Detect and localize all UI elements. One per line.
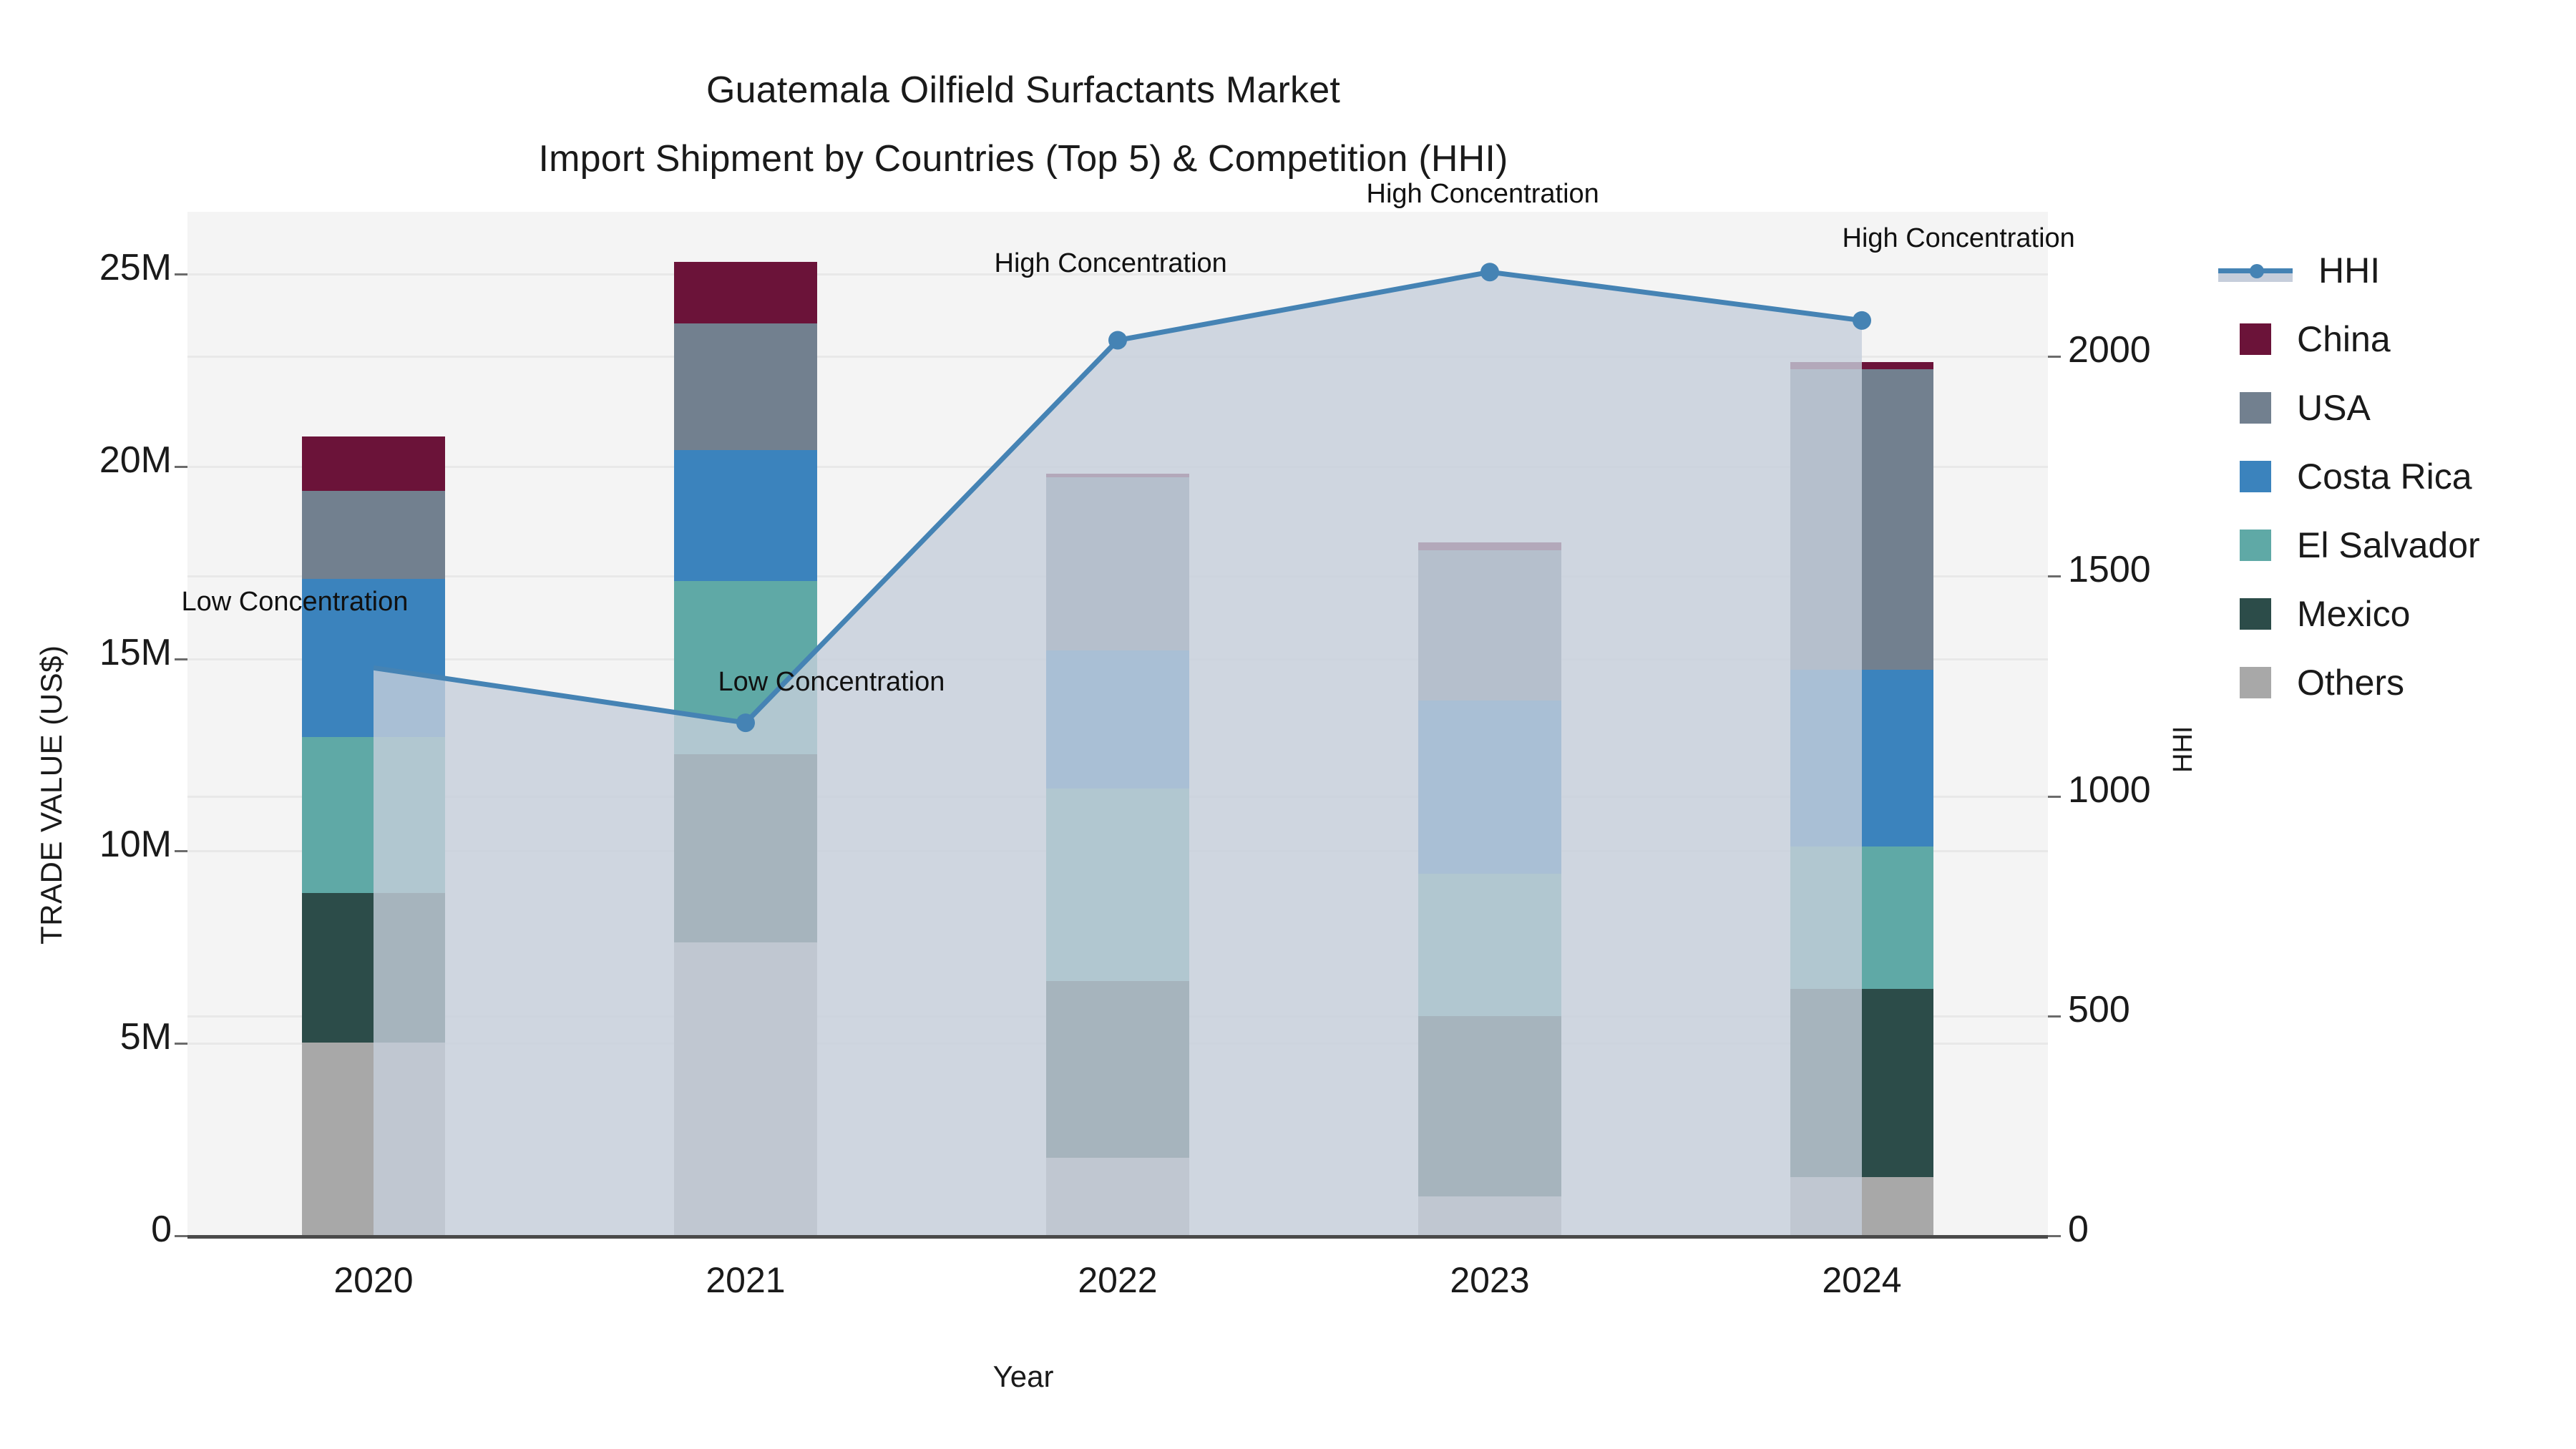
bar-segment[interactable] [1790, 1177, 1933, 1235]
tick-mark [175, 658, 187, 660]
bar-segment[interactable] [1790, 989, 1933, 1177]
legend-swatch-icon [2240, 392, 2271, 424]
concentration-annotation: Low Concentration [182, 587, 409, 618]
legend-swatch-icon [2240, 530, 2271, 561]
chart-root: Guatemala Oilfield Surfactants Market Im… [0, 0, 2576, 1449]
bar-segment[interactable] [1790, 670, 1933, 847]
bar-segment[interactable] [1418, 542, 1561, 550]
legend-item-usa[interactable]: USA [2218, 374, 2576, 442]
concentration-annotation: High Concentration [1843, 223, 2075, 254]
bar-segment[interactable] [1790, 847, 1933, 989]
legend-label: USA [2297, 387, 2371, 429]
y-axis-left-tick: 20M [99, 439, 172, 482]
legend-item-costa-rica[interactable]: Costa Rica [2218, 442, 2576, 511]
legend-label: HHI [2318, 250, 2380, 291]
tick-mark [2048, 796, 2061, 798]
bar-segment[interactable] [1418, 1016, 1561, 1197]
bar-segment[interactable] [674, 262, 817, 323]
bar-segment[interactable] [674, 323, 817, 450]
bar-segment[interactable] [302, 436, 445, 490]
y-axis-right-tick: 1000 [2068, 769, 2151, 811]
x-axis-tick: 2023 [1340, 1259, 1640, 1301]
tick-mark [2048, 575, 2061, 577]
bar-segment[interactable] [674, 754, 817, 942]
bar-segment[interactable] [1046, 789, 1189, 981]
gridline-right [187, 356, 2048, 358]
concentration-annotation: High Concentration [995, 248, 1227, 279]
legend-label: Costa Rica [2297, 456, 2472, 497]
legend-item-hhi[interactable]: HHI [2218, 236, 2576, 305]
legend: HHIChinaUSACosta RicaEl SalvadorMexicoOt… [2218, 236, 2576, 717]
tick-mark [2048, 356, 2061, 358]
x-axis-tick: 2021 [595, 1259, 896, 1301]
concentration-annotation: High Concentration [1367, 179, 1599, 210]
y-axis-left-tick: 15M [99, 631, 172, 674]
bar-segment[interactable] [1418, 701, 1561, 874]
x-axis-tick: 2024 [1712, 1259, 2012, 1301]
y-axis-left-tick: 0 [151, 1208, 172, 1251]
legend-swatch-icon [2240, 323, 2271, 355]
tick-mark [175, 466, 187, 468]
y-axis-right-tick: 2000 [2068, 328, 2151, 371]
bar-segment[interactable] [302, 1043, 445, 1235]
title-line-2: Import Shipment by Countries (Top 5) & C… [0, 125, 2046, 193]
legend-item-el-salvador[interactable]: El Salvador [2218, 511, 2576, 580]
legend-label: Mexico [2297, 593, 2410, 635]
x-axis-tick: 2020 [223, 1259, 524, 1301]
bar-segment[interactable] [302, 737, 445, 893]
x-axis-tick: 2022 [967, 1259, 1268, 1301]
legend-swatch-icon [2240, 598, 2271, 630]
bar-segment[interactable] [674, 450, 817, 581]
legend-label: China [2297, 318, 2391, 360]
title-line-1: Guatemala Oilfield Surfactants Market [0, 56, 2046, 125]
y-axis-right-tick: 0 [2068, 1208, 2089, 1251]
legend-item-mexico[interactable]: Mexico [2218, 580, 2576, 648]
y-axis-right-tick: 500 [2068, 988, 2130, 1031]
concentration-annotation: Low Concentration [718, 667, 945, 698]
y-axis-right-label: HHI [2168, 726, 2199, 773]
tick-mark [175, 850, 187, 852]
bar-segment[interactable] [1046, 981, 1189, 1158]
bar-segment[interactable] [1418, 874, 1561, 1016]
bar-segment[interactable] [1046, 477, 1189, 650]
legend-swatch-icon [2240, 667, 2271, 698]
y-axis-left-tick: 10M [99, 823, 172, 866]
legend-label: Others [2297, 662, 2404, 703]
tick-mark [175, 1235, 187, 1237]
y-axis-left-tick: 5M [120, 1015, 172, 1058]
bar-segment[interactable] [1046, 1158, 1189, 1235]
bar-segment[interactable] [1790, 369, 1933, 669]
bar-segment[interactable] [1418, 1196, 1561, 1235]
y-axis-left-tick: 25M [99, 246, 172, 289]
tick-mark [175, 1043, 187, 1045]
hhi-line-key-icon [2218, 255, 2293, 286]
y-axis-left-label: TRADE VALUE (US$) [34, 645, 69, 945]
y-axis-right-tick: 1500 [2068, 548, 2151, 591]
x-axis-line [187, 1235, 2048, 1239]
bar-segment[interactable] [1418, 550, 1561, 701]
chart-title: Guatemala Oilfield Surfactants Market Im… [0, 56, 2046, 193]
x-axis-label: Year [0, 1360, 2046, 1394]
legend-item-china[interactable]: China [2218, 305, 2576, 374]
bar-segment[interactable] [1790, 362, 1933, 370]
tick-mark [2048, 1235, 2061, 1237]
tick-mark [175, 273, 187, 275]
bar-segment[interactable] [302, 491, 445, 580]
legend-swatch-icon [2240, 461, 2271, 492]
legend-label: El Salvador [2297, 525, 2480, 566]
bar-segment[interactable] [302, 893, 445, 1043]
legend-item-others[interactable]: Others [2218, 648, 2576, 717]
bar-segment[interactable] [674, 942, 817, 1235]
tick-mark [2048, 1015, 2061, 1018]
bar-segment[interactable] [1046, 650, 1189, 789]
bar-segment[interactable] [1046, 474, 1189, 477]
gridline-left [187, 466, 2048, 468]
